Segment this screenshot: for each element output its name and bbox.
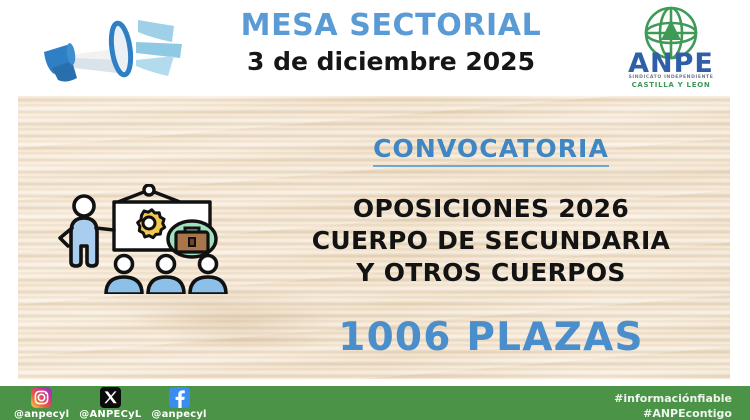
social-link-facebook[interactable]: @anpecyl <box>151 387 206 420</box>
plazas-count: 1006 PLAZAS <box>256 317 726 360</box>
hashtag-anpe-contigo: #ANPEcontigo <box>614 407 732 420</box>
announcement-text-column: CONVOCATORIA OPOSICIONES 2026 CUERPO DE … <box>256 134 726 360</box>
event-date: 3 de diciembre 2025 <box>196 47 586 77</box>
svg-text:CASTILLA Y LEON: CASTILLA Y LEON <box>632 81 711 89</box>
poster-header: MESA SECTORIAL 3 de diciembre 2025 ANPE … <box>0 0 750 94</box>
instagram-icon[interactable] <box>31 387 52 408</box>
x-twitter-icon[interactable] <box>100 387 121 408</box>
poster-canvas: MESA SECTORIAL 3 de diciembre 2025 ANPE … <box>0 0 750 420</box>
hashtag-informacion-fiable: #informaciónfiable <box>614 392 732 407</box>
facebook-handle[interactable]: @anpecyl <box>151 409 206 420</box>
headline-line-3: Y OTROS CUERPOS <box>256 257 726 289</box>
x-handle[interactable]: @ANPECyL <box>79 409 141 420</box>
header-title-block: MESA SECTORIAL 3 de diciembre 2025 <box>196 9 586 77</box>
hashtag-block: #informaciónfiable #ANPEcontigo <box>614 392 732 420</box>
facebook-icon[interactable] <box>169 387 190 408</box>
social-link-x[interactable]: @ANPECyL <box>79 387 141 420</box>
anpe-logo: ANPE SINDICATO INDEPENDIENTE CASTILLA Y … <box>612 6 730 90</box>
briefcase-icon-shape <box>168 221 216 257</box>
instagram-handle[interactable]: @anpecyl <box>14 409 69 420</box>
announcement-headline: OPOSICIONES 2026 CUERPO DE SECUNDARIA Y … <box>256 193 726 289</box>
page-title: MESA SECTORIAL <box>196 9 586 43</box>
social-links: @anpecyl @ANPECyL @anp <box>14 387 207 420</box>
convocatoria-heading: CONVOCATORIA <box>373 134 609 167</box>
presenter-figure-shape <box>60 196 114 266</box>
megaphone-icon <box>22 8 192 88</box>
meeting-presentation-illustration <box>56 184 242 294</box>
gear-icon-shape <box>138 210 165 238</box>
content-panel: CONVOCATORIA OPOSICIONES 2026 CUERPO DE … <box>18 96 730 379</box>
audience-figure-shape <box>148 256 184 295</box>
audience-figure-shape <box>190 256 226 295</box>
poster-footer: @anpecyl @ANPECyL @anp <box>0 386 750 420</box>
headline-line-1: OPOSICIONES 2026 <box>256 193 726 225</box>
headline-line-2: CUERPO DE SECUNDARIA <box>256 225 726 257</box>
audience-figure-shape <box>106 256 142 295</box>
svg-text:SINDICATO INDEPENDIENTE: SINDICATO INDEPENDIENTE <box>628 74 713 80</box>
social-link-instagram[interactable]: @anpecyl <box>14 387 69 420</box>
